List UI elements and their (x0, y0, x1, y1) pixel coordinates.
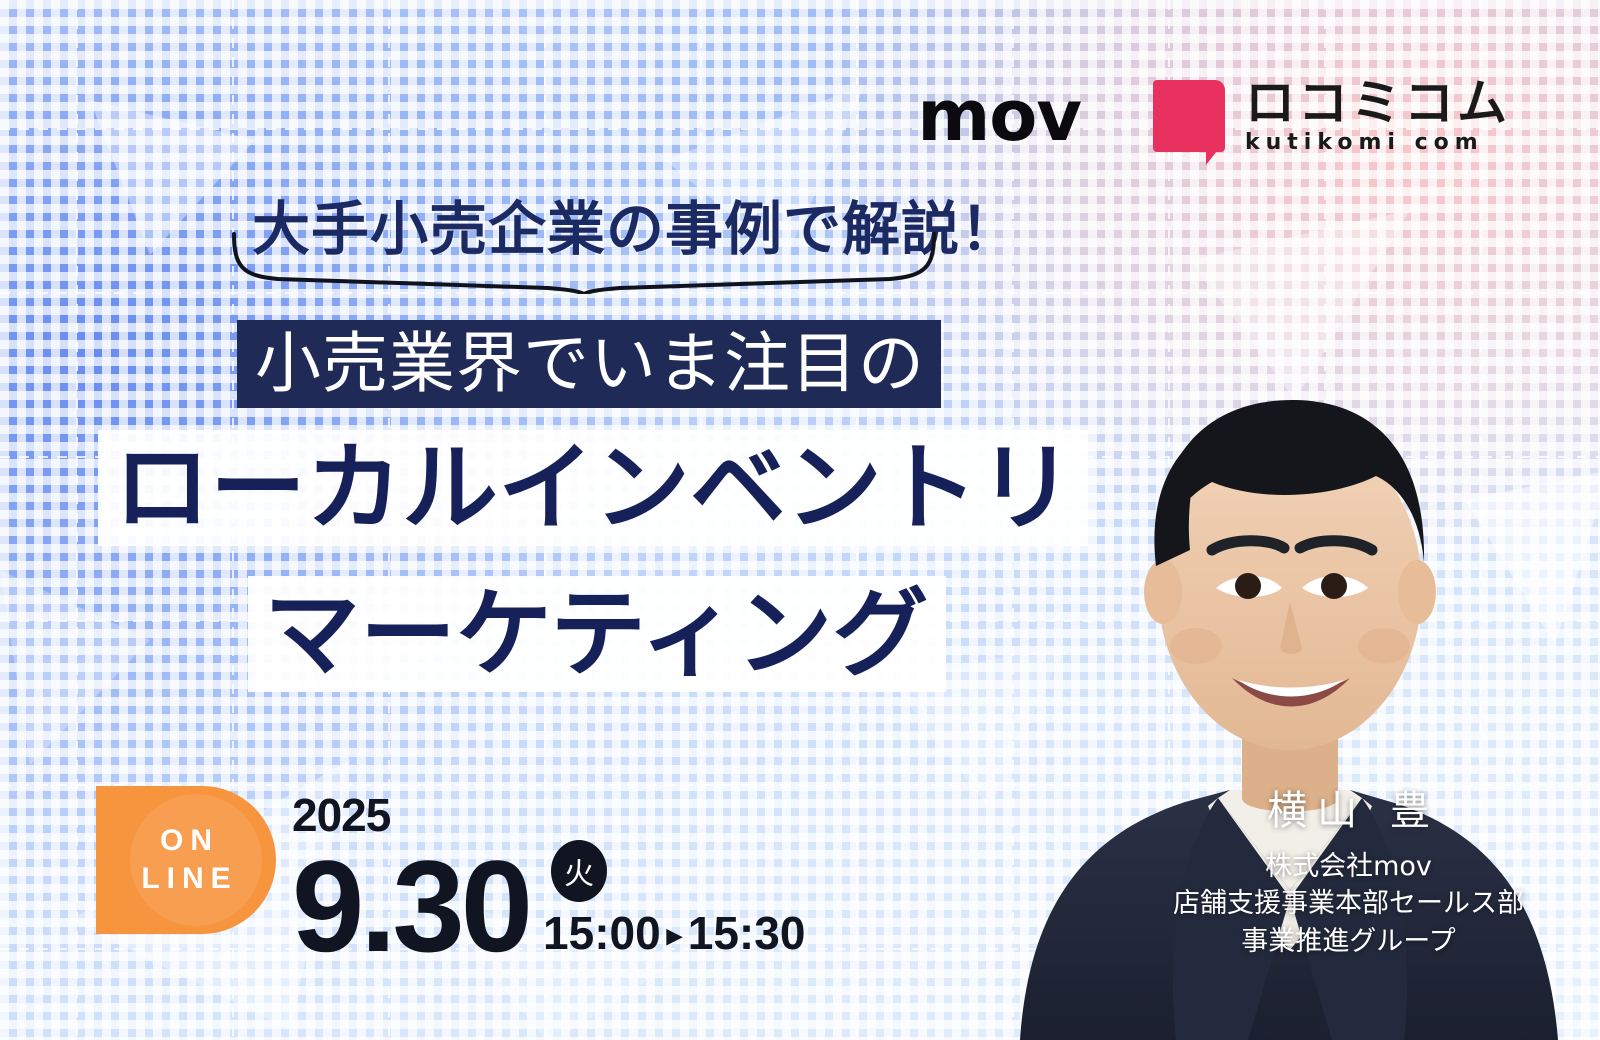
kuchikomi-logo-jp: ロコミコム (1245, 78, 1510, 128)
event-date: 9.30 (292, 853, 529, 960)
event-day-of-week: 火 (551, 840, 607, 902)
grid-line-v (76, 0, 78, 1040)
event-day-row: 9.30 火 15:00▸15:30 (292, 840, 805, 960)
decorative-triangle-icon (0, 560, 170, 770)
title-line-2-band: ローカルインベントリ (98, 430, 1088, 546)
online-badge: ON LINE (96, 786, 276, 934)
kuchikomi-logo-en: kutikomi com (1245, 132, 1510, 154)
kuchikomi-logo-text: ロコミコム kutikomi com (1245, 78, 1510, 154)
webinar-banner: mov ロコミコム kutikomi com 大手小売企業の事例で解説！ 小売業… (0, 0, 1600, 1040)
title-line-1: 小売業界でいま注目の (255, 331, 925, 397)
event-time: 15:00▸15:30 (543, 910, 805, 956)
decorative-triangle-icon (80, 80, 260, 260)
event-date-block: 2025 9.30 火 15:00▸15:30 (292, 792, 805, 960)
logo-row: mov ロコミコム kutikomi com (917, 78, 1510, 154)
event-year: 2025 (292, 792, 805, 838)
speaker-company: 株式会社mov (1173, 848, 1524, 885)
online-badge-line-2: LINE (134, 864, 237, 894)
time-arrow-icon: ▸ (667, 919, 682, 952)
online-badge-line-1: ON (153, 826, 219, 856)
title-line-1-band: 小売業界でいま注目の (237, 320, 941, 408)
speaker-info: 横山 豊 株式会社mov 店舗支援事業本部セールス部 事業推進グループ (1173, 788, 1524, 960)
speaker-group: 事業推進グループ (1173, 923, 1524, 960)
title-line-3-band: マーケティング (248, 576, 946, 692)
mov-logo: mov (917, 81, 1081, 151)
title-line-3: マーケティング (264, 586, 928, 682)
event-dow-time: 火 15:00▸15:30 (543, 840, 805, 960)
kuchikomi-logo: ロコミコム kutikomi com (1153, 78, 1510, 154)
kicker-text: 大手小売企業の事例で解説！ (252, 182, 1019, 266)
speaker-department: 店舗支援事業本部セールス部 (1173, 885, 1524, 922)
speech-bubble-icon (1153, 80, 1225, 152)
speaker-name: 横山 豊 (1173, 788, 1524, 834)
event-time-start: 15:00 (543, 907, 661, 959)
event-time-end: 15:30 (688, 907, 806, 959)
title-line-2: ローカルインベントリ (114, 440, 1074, 536)
